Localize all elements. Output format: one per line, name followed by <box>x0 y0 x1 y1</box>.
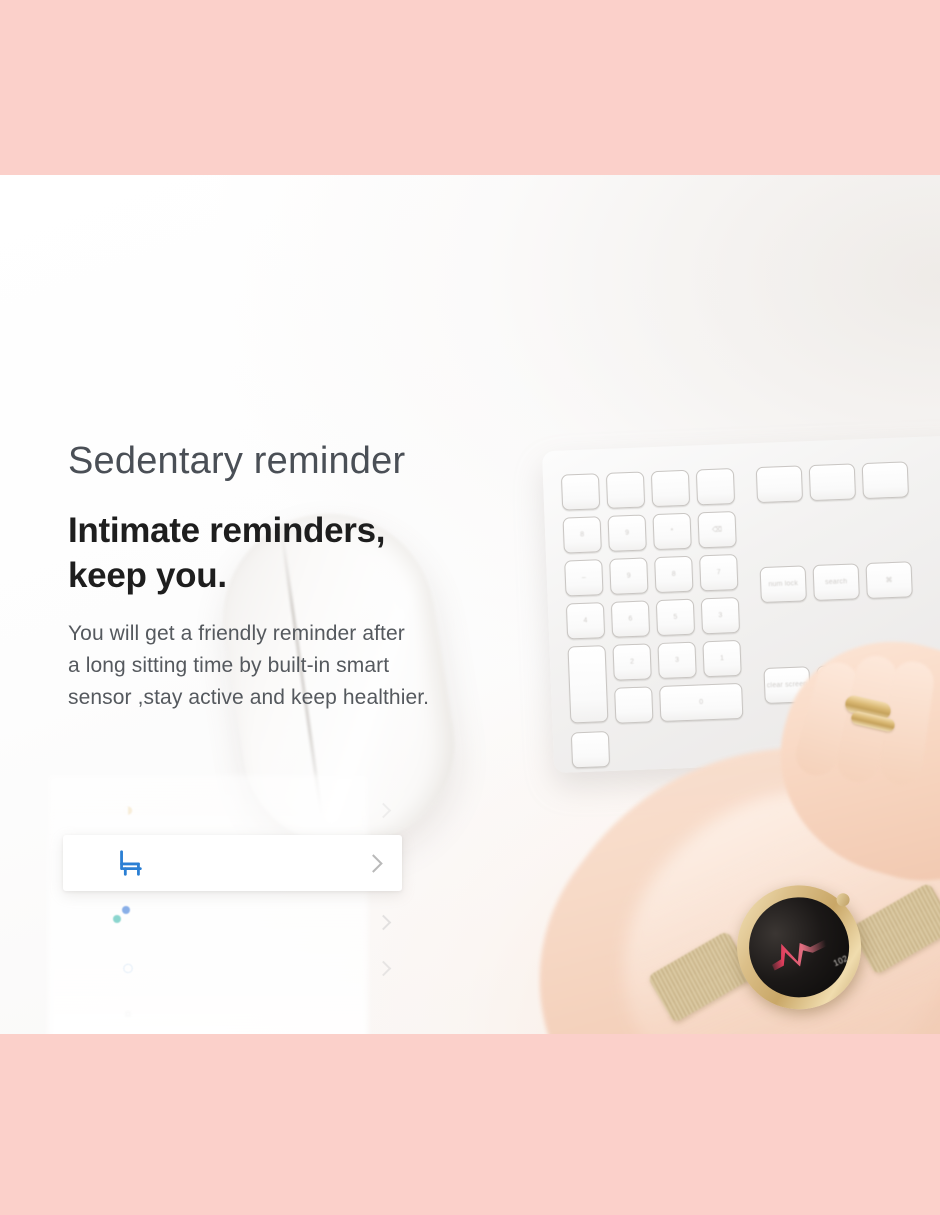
water-drop-icon: ◌ <box>115 955 141 981</box>
chevron-right-icon <box>376 960 392 976</box>
key <box>561 473 600 510</box>
key: 0 <box>659 683 743 722</box>
key-glyph: * <box>654 527 690 535</box>
key-glyph <box>608 490 644 491</box>
top-pink-band <box>0 0 940 175</box>
chevron-right-icon <box>376 914 392 930</box>
key <box>606 471 645 508</box>
body-line-2: a long sitting time by built-in smart <box>68 650 429 682</box>
headline-line-2: keep you. <box>68 554 385 599</box>
page-title: Intimate reminders, keep you. <box>68 509 385 599</box>
watch-crown-icon <box>834 891 851 908</box>
dot <box>113 915 121 923</box>
key <box>756 465 803 503</box>
key-glyph: 3 <box>659 656 695 664</box>
key-glyph: 9 <box>611 572 647 580</box>
key: ⌫ <box>697 511 736 548</box>
app-settings-list: ◑ <box>63 787 413 1032</box>
bottom-pink-band <box>0 1034 940 1215</box>
key <box>696 468 735 505</box>
key: 9 <box>608 514 647 551</box>
list-item[interactable] <box>63 899 403 945</box>
key <box>651 470 690 507</box>
key: 6 <box>611 600 650 637</box>
key-glyph <box>563 491 599 492</box>
watch-reading: 102 <box>832 954 849 968</box>
body-line-3: sensor ,stay active and keep healthier. <box>68 682 429 714</box>
key: search <box>813 564 860 602</box>
key-glyph: 6 <box>612 615 648 623</box>
key-glyph <box>757 483 801 485</box>
key: 8 <box>654 556 693 593</box>
key-glyph: num lock <box>761 580 805 589</box>
key-glyph: – <box>566 574 602 582</box>
list-item[interactable]: ◑ <box>63 787 403 833</box>
chevron-right-icon <box>376 802 392 818</box>
key-glyph: 8 <box>656 570 692 578</box>
key: * <box>652 513 691 550</box>
dot <box>122 906 130 914</box>
key-glyph: 3 <box>702 611 738 619</box>
key-glyph <box>570 684 606 685</box>
list-item[interactable]: ▫ <box>63 991 403 1034</box>
body-copy: You will get a friendly reminder after a… <box>68 618 429 714</box>
key: 8 <box>563 516 602 553</box>
two-dots-icon <box>115 909 141 935</box>
key <box>809 463 856 501</box>
key: 3 <box>657 642 696 679</box>
eyebrow-title: Sedentary reminder <box>68 440 405 483</box>
key-glyph <box>572 749 608 750</box>
key-glyph: ⌫ <box>699 525 735 534</box>
key-glyph: 8 <box>564 531 600 539</box>
list-item[interactable]: ◌ <box>63 945 403 991</box>
key: 5 <box>656 599 695 636</box>
key <box>862 461 909 499</box>
sedentary-chair-icon <box>113 846 147 880</box>
feature-photo-panel: 8 9 * ⌫ – 9 8 7 4 6 5 3 2 3 1 <box>0 175 940 1034</box>
promo-page: 8 9 * ⌫ – 9 8 7 4 6 5 3 2 3 1 <box>0 0 940 1215</box>
key-glyph: ⌘ <box>867 576 911 586</box>
key-glyph: 7 <box>701 568 737 576</box>
chevron-right-icon <box>364 854 382 872</box>
key-glyph <box>863 479 907 481</box>
faint-icon: ▫ <box>115 1001 141 1027</box>
key <box>614 686 653 723</box>
key: 3 <box>701 597 740 634</box>
key-glyph <box>653 488 689 489</box>
key: – <box>564 559 603 596</box>
key: 1 <box>702 640 741 677</box>
key-glyph: search <box>814 578 858 587</box>
two-dots-glyph <box>117 911 139 933</box>
key-glyph: 2 <box>614 658 650 666</box>
heart-rate-icon <box>763 919 837 977</box>
key <box>571 731 610 768</box>
headline-line-1: Intimate reminders, <box>68 509 385 554</box>
key-glyph: 4 <box>567 617 603 625</box>
key: ⌘ <box>866 562 913 600</box>
key-glyph: 0 <box>661 697 742 707</box>
key: 4 <box>566 602 605 639</box>
key: 9 <box>609 557 648 594</box>
key-glyph <box>616 704 652 705</box>
body-line-1: You will get a friendly reminder after <box>68 618 429 650</box>
key-glyph <box>697 486 733 487</box>
shield-icon: ◑ <box>115 797 141 823</box>
sedentary-reminder-row[interactable] <box>63 835 402 891</box>
key-glyph: 9 <box>609 529 645 537</box>
key: num lock <box>760 566 807 604</box>
watch-case: 102 <box>717 865 881 1029</box>
key: 2 <box>612 643 651 680</box>
key <box>567 645 608 723</box>
key-glyph: 5 <box>657 613 693 621</box>
key: 7 <box>699 554 738 591</box>
keyboard-numpad-block: 8 9 * ⌫ – 9 8 7 4 6 5 3 2 3 1 <box>561 468 745 768</box>
key-glyph <box>810 481 854 483</box>
key-glyph: 1 <box>704 654 740 662</box>
